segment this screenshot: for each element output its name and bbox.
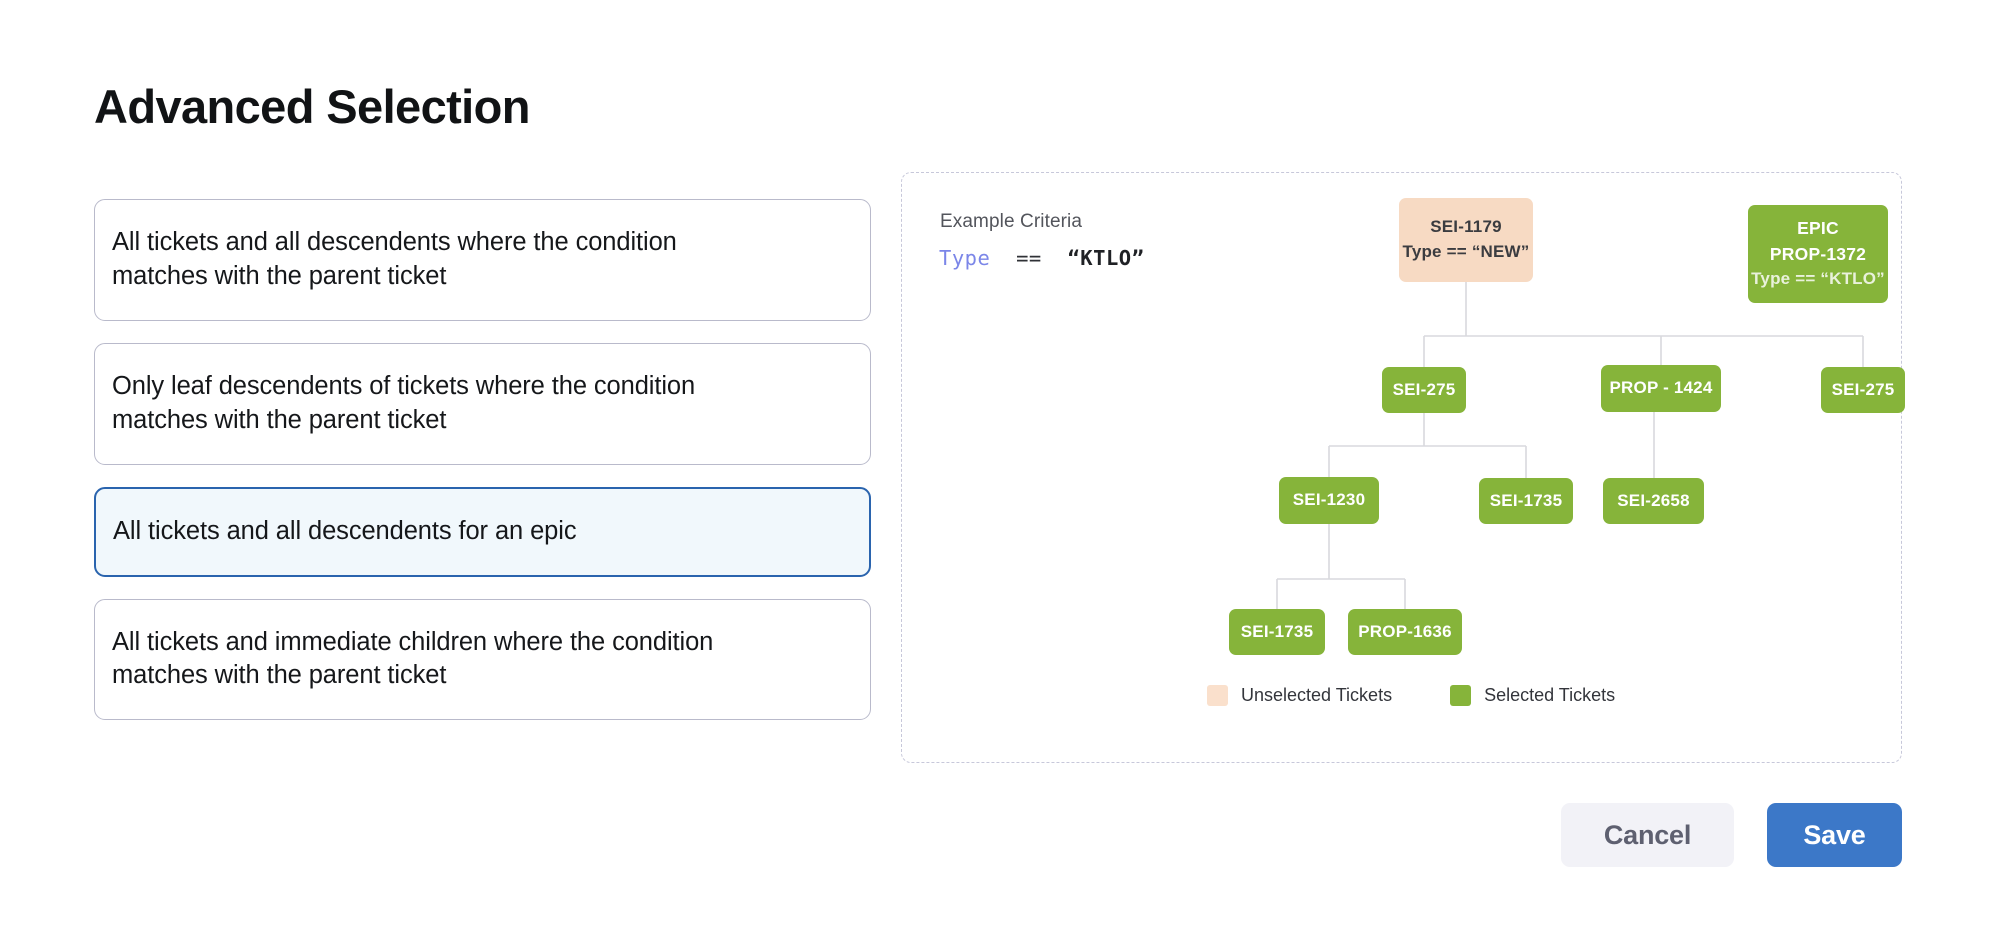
option-line: Only leaf descendents of tickets where t… (112, 370, 853, 404)
option-line: All tickets and all descendents for an e… (113, 515, 852, 549)
option-card-all-descendents-epic[interactable]: All tickets and all descendents for an e… (94, 487, 871, 577)
option-card-immediate-children-condition[interactable]: All tickets and immediate children where… (94, 599, 871, 721)
tree-node-sei-2658[interactable]: SEI-2658 (1603, 478, 1704, 524)
node-title: PROP - 1424 (1610, 376, 1713, 401)
unselected-swatch-icon (1207, 685, 1228, 706)
dialog-footer: Cancel Save (0, 803, 1902, 867)
tree-node-epic-prop-1372[interactable]: EPIC PROP-1372 Type == “KTLO” (1748, 205, 1888, 303)
legend-item-unselected: Unselected Tickets (1207, 685, 1392, 706)
advanced-selection-page: Advanced Selection All tickets and all d… (0, 0, 1994, 936)
option-line: matches with the parent ticket (112, 260, 853, 294)
selection-options-list: All tickets and all descendents where th… (94, 199, 871, 742)
node-title: PROP-1636 (1358, 620, 1451, 645)
node-subtitle: Type == “KTLO” (1751, 267, 1885, 292)
option-line: matches with the parent ticket (112, 404, 853, 438)
tree-node-sei-1735-upper[interactable]: SEI-1735 (1479, 478, 1573, 524)
legend-label: Unselected Tickets (1241, 685, 1392, 706)
tree-node-sei-1230[interactable]: SEI-1230 (1279, 477, 1379, 524)
legend-item-selected: Selected Tickets (1450, 685, 1615, 706)
cancel-button[interactable]: Cancel (1561, 803, 1734, 867)
selected-swatch-icon (1450, 685, 1471, 706)
node-title: SEI-1735 (1241, 620, 1313, 645)
save-button[interactable]: Save (1767, 803, 1902, 867)
option-card-leaf-descendents-condition[interactable]: Only leaf descendents of tickets where t… (94, 343, 871, 465)
option-card-all-descendents-condition[interactable]: All tickets and all descendents where th… (94, 199, 871, 321)
tree-node-prop-1424[interactable]: PROP - 1424 (1601, 365, 1721, 412)
diagram-legend: Unselected Tickets Selected Tickets (1207, 685, 1615, 706)
node-title: PROP-1372 (1770, 242, 1866, 267)
node-title: SEI-1179 (1430, 215, 1502, 240)
tree-node-sei-1735-lower[interactable]: SEI-1735 (1229, 609, 1325, 655)
tree-node-sei-1179[interactable]: SEI-1179 Type == “NEW” (1399, 198, 1533, 282)
node-title: SEI-275 (1832, 378, 1895, 403)
node-subtitle: Type == “NEW” (1403, 240, 1530, 265)
option-line: matches with the parent ticket (112, 659, 853, 693)
node-kind: EPIC (1797, 216, 1839, 241)
option-line: All tickets and all descendents where th… (112, 226, 853, 260)
legend-label: Selected Tickets (1484, 685, 1615, 706)
node-title: SEI-2658 (1617, 489, 1689, 514)
tree-node-sei-275-right[interactable]: SEI-275 (1821, 367, 1905, 413)
node-title: SEI-1230 (1293, 488, 1365, 513)
example-diagram-panel: Example Criteria Type == “KTLO” (901, 172, 1902, 763)
page-title: Advanced Selection (94, 79, 530, 134)
tree-node-prop-1636[interactable]: PROP-1636 (1348, 609, 1462, 655)
option-line: All tickets and immediate children where… (112, 626, 853, 660)
node-title: SEI-1735 (1490, 489, 1562, 514)
node-title: SEI-275 (1393, 378, 1456, 403)
tree-node-sei-275-left[interactable]: SEI-275 (1382, 367, 1466, 413)
